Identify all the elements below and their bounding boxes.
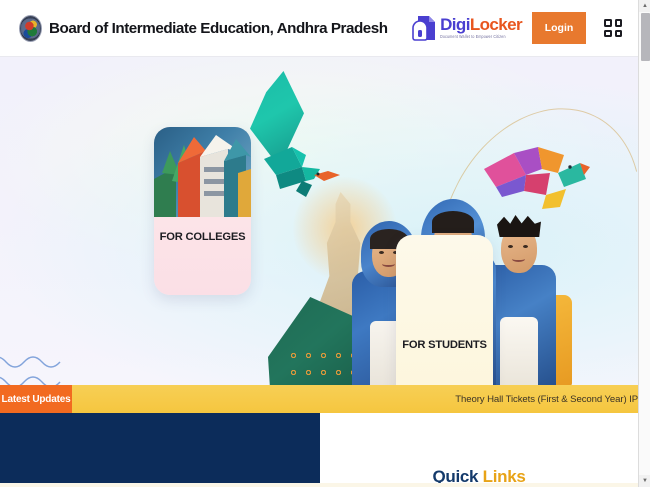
student-left-eye [379, 251, 384, 254]
student-right-shirt [500, 317, 538, 385]
navy-info-panel [0, 413, 320, 483]
student-right-smile [512, 256, 525, 262]
site-brand[interactable]: Board of Intermediate Education, Andhra … [0, 15, 388, 42]
college-building-photo [154, 127, 251, 217]
blue-wave-decoration [0, 352, 64, 385]
bieap-watermark: BIEAP [590, 57, 638, 61]
digilocker-logo[interactable]: DigiLocker Document Wallet to Empower Ci… [411, 14, 532, 42]
card-for-colleges[interactable]: FOR COLLEGES [154, 127, 251, 295]
digilocker-tagline: Document Wallet to Empower Citizen [440, 36, 506, 40]
grid-cell [604, 19, 612, 27]
scroll-down-arrow-icon[interactable]: ▼ [639, 475, 650, 487]
scrollbar-track[interactable] [639, 12, 650, 475]
browser-viewport: Board of Intermediate Education, Andhra … [0, 0, 650, 487]
grid-cell [604, 30, 612, 38]
student-right-hair [497, 215, 541, 237]
board-emblem-icon [19, 15, 42, 42]
page-title: Board of Intermediate Education, Andhra … [49, 20, 388, 37]
scroll-up-arrow-icon[interactable]: ▲ [639, 0, 650, 12]
card-for-students[interactable]: FOR STUDENTS [396, 235, 493, 385]
card-label-colleges: FOR COLLEGES [154, 231, 251, 243]
hero-cards: FOR STUDENTS [44, 127, 251, 295]
header-actions: DigiLocker Document Wallet to Empower Ci… [411, 0, 638, 56]
student-left-smile [382, 261, 395, 267]
grid-cell [615, 19, 623, 27]
hero-banner: BIEAP [0, 57, 638, 385]
app-grid-menu-icon[interactable] [596, 11, 630, 45]
student-right-eye [523, 245, 528, 248]
hummingbird-teal-icon [262, 145, 342, 203]
latest-updates-badge: Latest Updates [0, 385, 72, 413]
card-label-students: FOR STUDENTS [396, 339, 493, 351]
student-right-eye [508, 245, 513, 248]
grid-cell [615, 30, 623, 38]
ticker-message[interactable]: Theory Hall Tickets (First & Second Year… [155, 394, 638, 405]
ticker-marquee[interactable]: Theory Hall Tickets (First & Second Year… [72, 385, 638, 413]
digilocker-word-locker: Locker [470, 15, 522, 34]
digilocker-mark-icon [411, 14, 437, 42]
scrollbar-thumb[interactable] [641, 13, 650, 61]
site-header: Board of Intermediate Education, Andhra … [0, 0, 638, 57]
latest-updates-ticker: Latest Updates Theory Hall Tickets (Firs… [0, 385, 638, 413]
below-fold-section: Quick Links [0, 413, 638, 487]
digilocker-word-digi: Digi [440, 15, 470, 34]
login-button[interactable]: Login [532, 12, 586, 44]
quick-links-panel: Quick Links [320, 413, 638, 483]
student-center-hair [432, 211, 474, 233]
bottom-strip [0, 483, 638, 487]
page-scrollbar[interactable]: ▲ ▼ [638, 0, 650, 487]
